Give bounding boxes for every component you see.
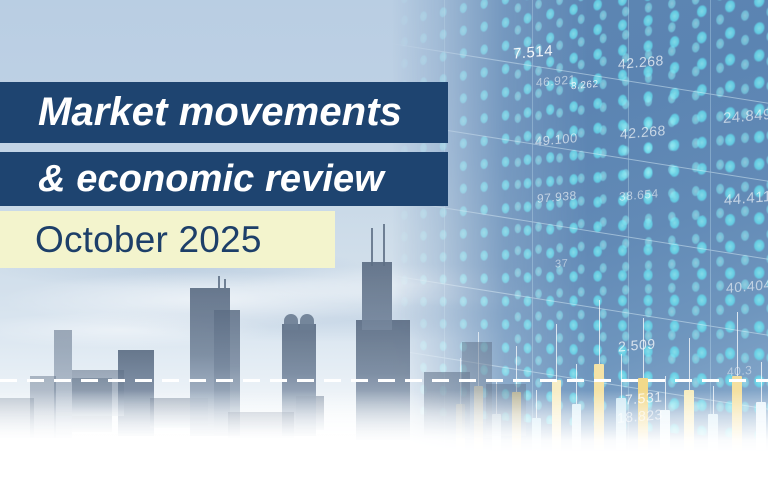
title-bar-line1: Market movements — [0, 82, 448, 143]
title-line2-text: & economic review — [0, 152, 448, 206]
title-line1-text: Market movements — [0, 82, 448, 143]
date-label-text: October 2025 — [0, 211, 335, 268]
dashed-divider-rule — [0, 379, 768, 382]
title-bar-line2: & economic review — [0, 152, 448, 206]
date-bar: October 2025 — [0, 211, 335, 268]
market-review-banner: 7.51446.9218.26242.26849.10042.26824.849… — [0, 0, 768, 480]
